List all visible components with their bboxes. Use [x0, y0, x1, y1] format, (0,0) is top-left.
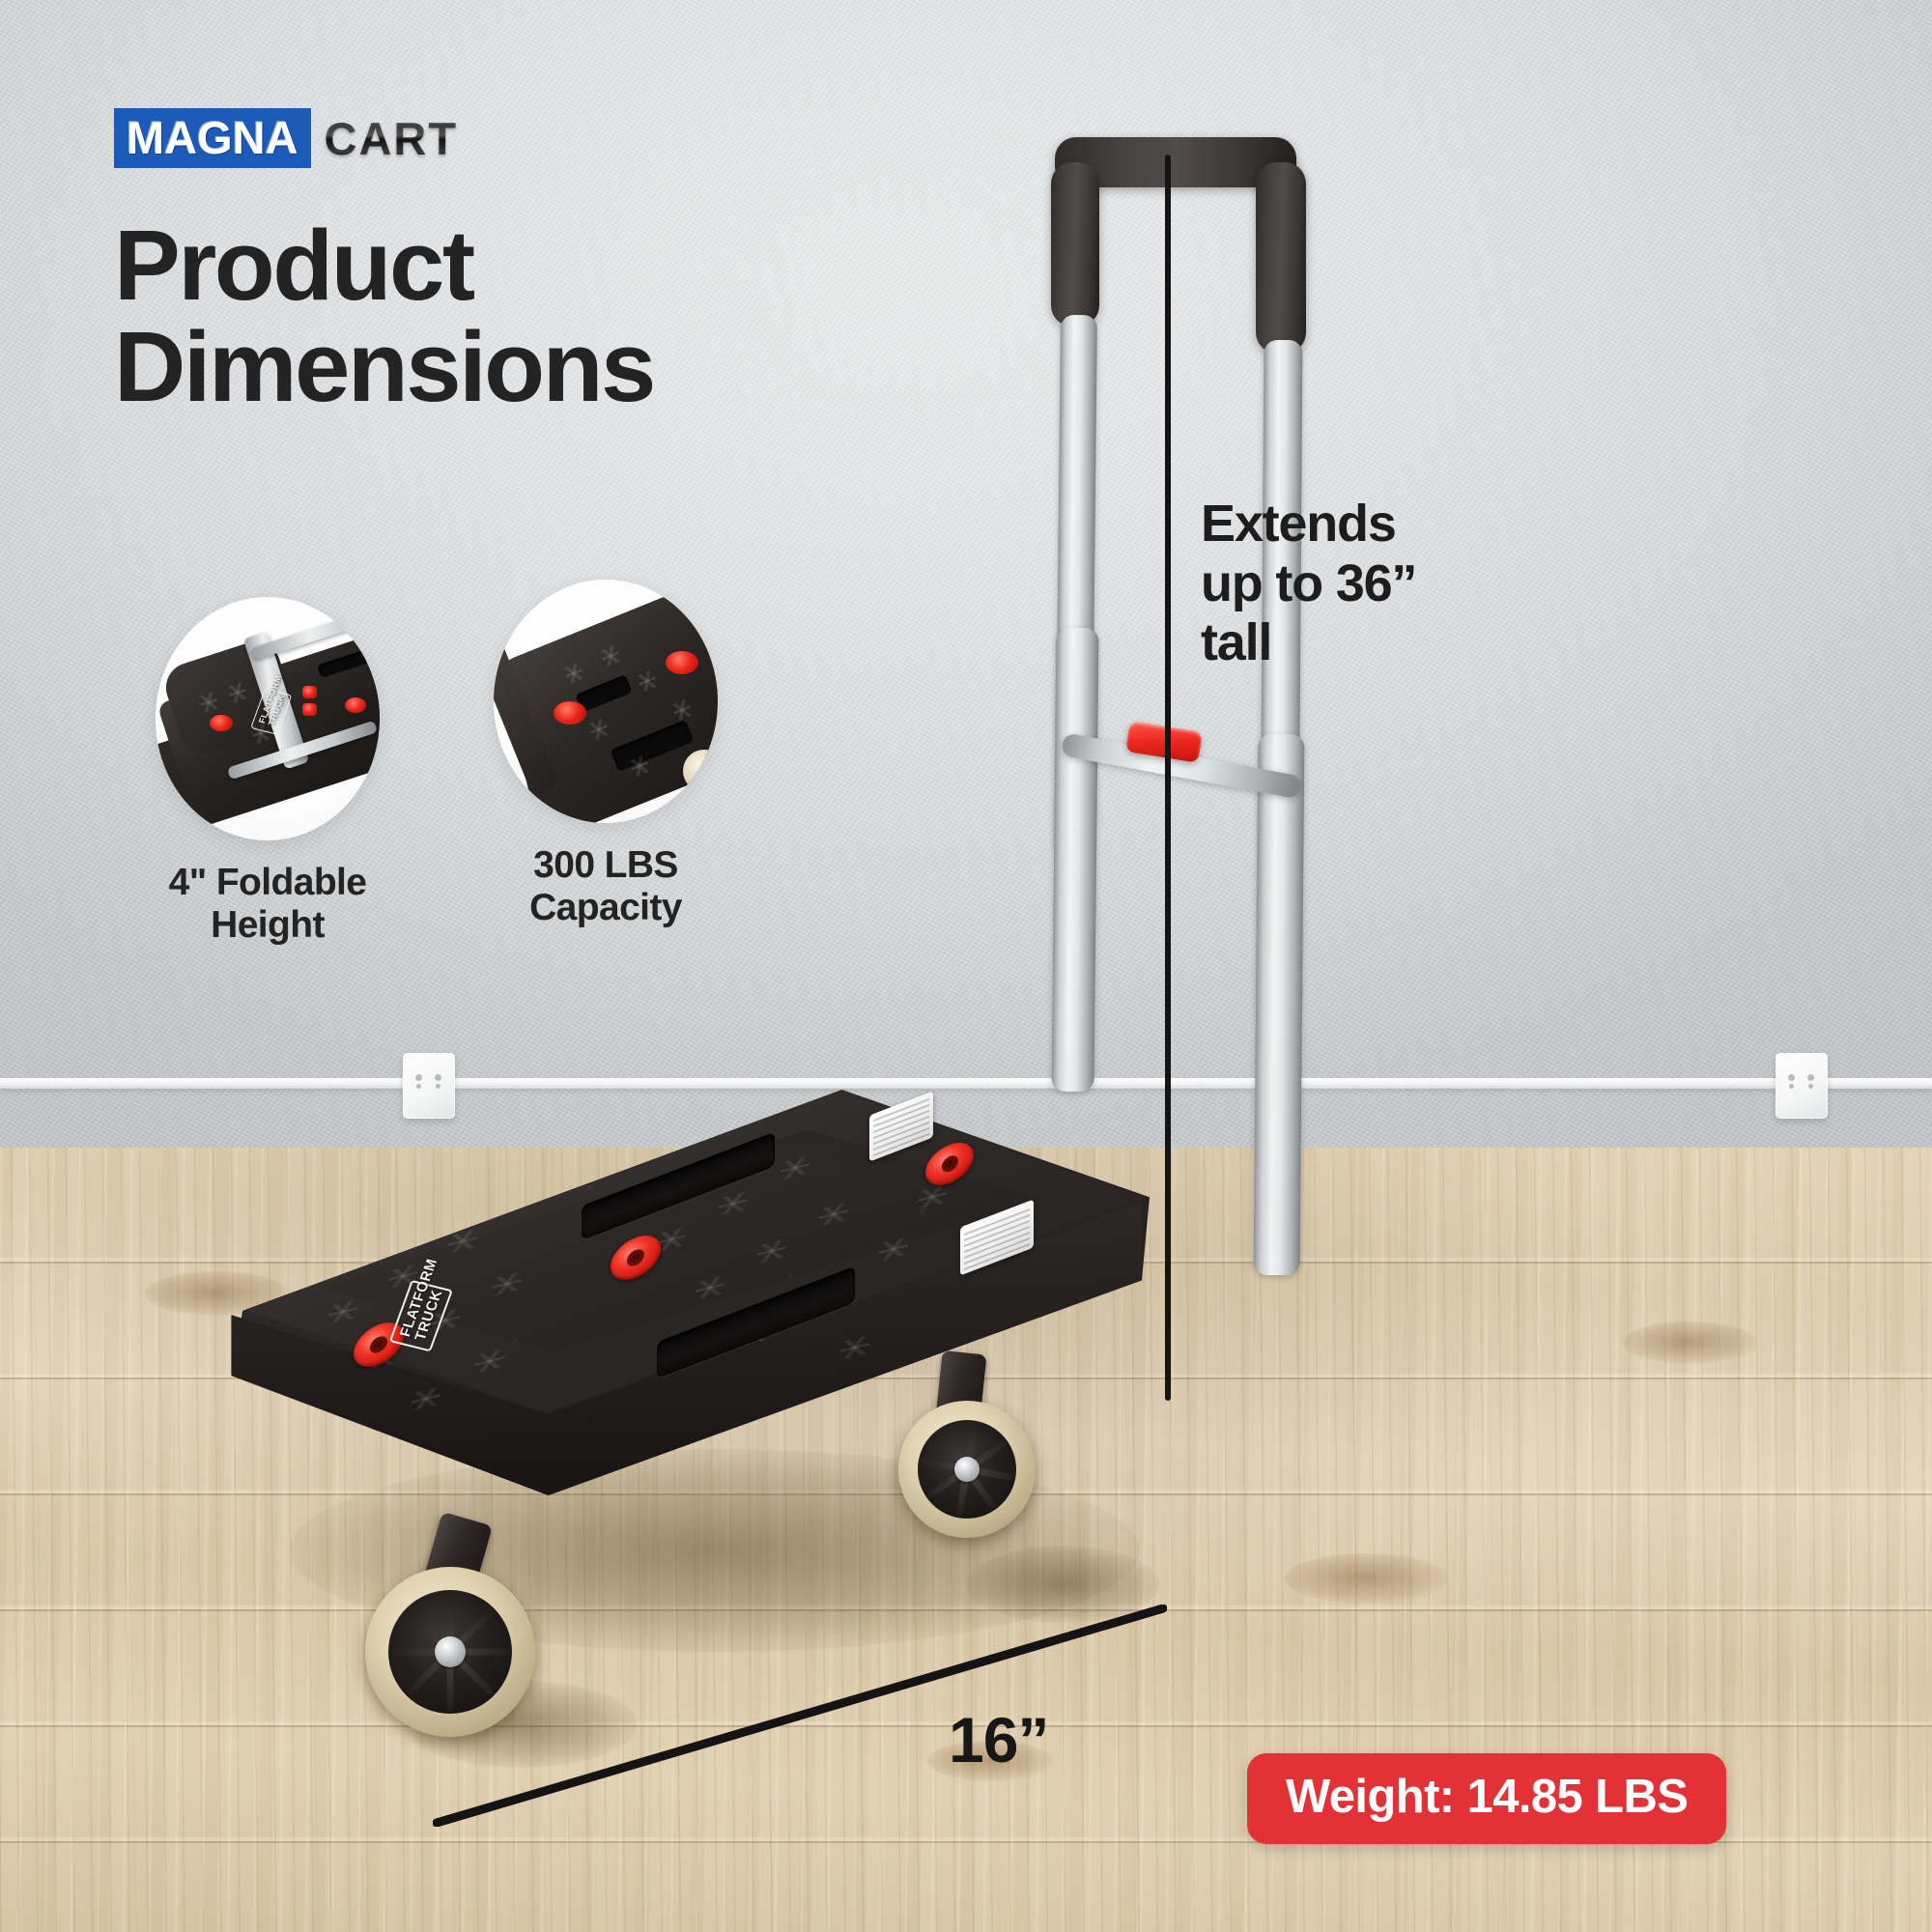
page-title-line2: Dimensions — [114, 316, 848, 417]
feature-caption-line2: Capacity — [437, 887, 775, 929]
height-callout-line1: Extends — [1201, 495, 1742, 554]
feature-foldable-height: FLATFORM TRUCK 4" Foldable Height — [99, 597, 437, 946]
feature-photo-folded-cart: FLATFORM TRUCK — [156, 597, 380, 840]
handle-grip-left[interactable] — [1051, 162, 1099, 327]
mini-release-lever — [302, 703, 317, 716]
width-dimension-label: 16” — [949, 1703, 1048, 1776]
width-measurement-line — [433, 1605, 1167, 1827]
brand-logo-cart: CART — [325, 116, 459, 161]
brand-logo-magna: MAGNA — [114, 108, 311, 168]
height-callout-line2: up to 36” — [1201, 554, 1742, 614]
feature-photo-platform-underside — [494, 580, 718, 823]
handle-grip-right[interactable] — [1256, 162, 1306, 354]
feature-caption-capacity: 300 LBS Capacity — [437, 844, 775, 928]
mini-bolt-cap — [345, 697, 366, 713]
handle-lower-tube-right[interactable] — [1254, 734, 1305, 1275]
height-callout-text: Extends up to 36” tall — [1201, 495, 1742, 673]
height-callout-line3: tall — [1201, 613, 1742, 673]
wall-outlet-right-icon — [1776, 1053, 1828, 1119]
caster-hub — [918, 1420, 1016, 1519]
mini-bolt-cap — [554, 701, 586, 724]
handle-lower-tube-left[interactable] — [1051, 628, 1098, 1092]
height-measurement-line — [1165, 155, 1171, 1401]
feature-capacity: 300 LBS Capacity — [437, 580, 775, 928]
mini-bolt-cap — [666, 651, 698, 674]
mini-release-lever — [302, 686, 317, 698]
feature-caption-line2: Height — [99, 904, 437, 947]
caster-wheel — [898, 1401, 1036, 1538]
mini-bolt-cap — [210, 715, 233, 731]
caster-axle — [954, 1457, 980, 1482]
page-title-line1: Product — [114, 214, 848, 316]
wall-trim-rail — [0, 1078, 1932, 1089]
feature-caption-foldable-height: 4" Foldable Height — [99, 862, 437, 946]
brand-logo: MAGNA CART — [114, 108, 458, 168]
feature-caption-line1: 4" Foldable — [99, 862, 437, 904]
mini-caster-wheel — [683, 750, 718, 792]
weight-badge: Weight: 14.85 LBS — [1247, 1753, 1726, 1844]
page-title: Product Dimensions — [114, 214, 848, 417]
feature-caption-line1: 300 LBS — [437, 844, 775, 887]
